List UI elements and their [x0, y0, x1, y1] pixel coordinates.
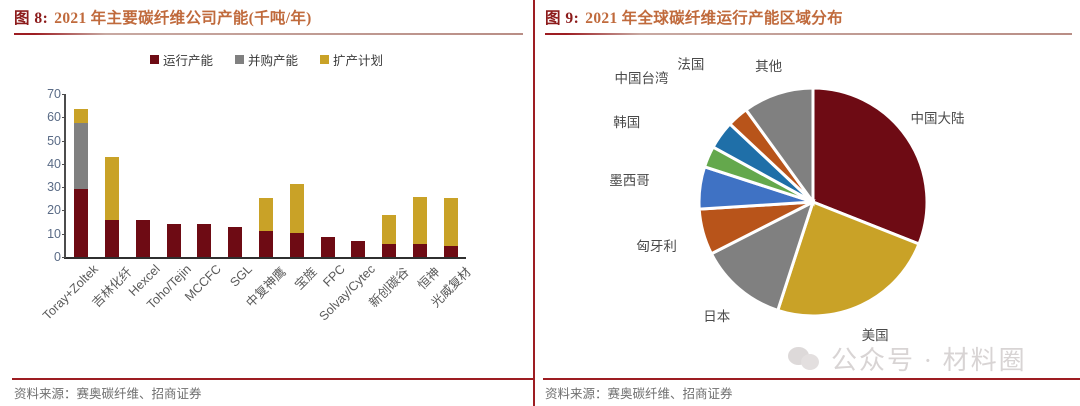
bar-segment	[105, 220, 119, 257]
bar-segment	[105, 157, 119, 220]
left-figure-panel: 图 8: 2021 年主要碳纤维公司产能(千吨/年) 运行产能并购产能扩产计划 …	[0, 0, 533, 406]
y-tick-mark	[62, 257, 66, 258]
bar-column[interactable]	[374, 94, 405, 257]
bar-segment	[413, 244, 427, 257]
bar-column[interactable]	[158, 94, 189, 257]
bar-segment	[382, 244, 396, 257]
bar-segment	[74, 189, 88, 257]
stacked-bar	[351, 241, 365, 257]
y-tick-label: 50	[47, 134, 61, 148]
stacked-bar	[74, 109, 88, 257]
stacked-bar	[197, 224, 211, 257]
stacked-bar	[290, 184, 304, 257]
y-tick-label: 10	[47, 227, 61, 241]
right-figure-title: 2021 年全球碳纤维运行产能区域分布	[585, 6, 843, 28]
y-tick-label: 40	[47, 157, 61, 171]
bar-segment	[413, 197, 427, 244]
pie-chart-svg	[533, 40, 1080, 370]
left-source-note: 资料来源：赛奥碳纤维、招商证券	[14, 383, 202, 402]
stacked-bar	[228, 227, 242, 257]
bar-column[interactable]	[312, 94, 343, 257]
pie-slice-label: 墨西哥	[609, 169, 650, 189]
left-footer-rule	[12, 378, 533, 380]
wechat-icon	[788, 347, 822, 371]
legend-swatch-icon	[150, 55, 159, 64]
right-title-block: 图 9: 2021 年全球碳纤维运行产能区域分布	[545, 6, 1072, 35]
bar-segment	[228, 227, 242, 257]
right-title-rule	[545, 33, 1072, 35]
left-figure-title: 2021 年主要碳纤维公司产能(千吨/年)	[54, 6, 311, 28]
y-tick-label: 60	[47, 110, 61, 124]
bar-segment	[197, 224, 211, 257]
legend-label: 扩产计划	[333, 50, 383, 69]
legend-item-1[interactable]: 并购产能	[235, 50, 298, 69]
bar-segment	[290, 184, 304, 234]
left-title-rule	[14, 33, 523, 35]
bar-column[interactable]	[66, 94, 97, 257]
legend-swatch-icon	[235, 55, 244, 64]
stacked-bar	[413, 197, 427, 257]
legend-label: 运行产能	[163, 50, 213, 69]
left-figure-number: 图 8:	[14, 6, 48, 28]
y-tick-label: 30	[47, 180, 61, 194]
pie-slice-label: 日本	[703, 305, 730, 325]
bar-segment	[74, 109, 88, 123]
bar-chart: 010203040506070	[0, 80, 533, 270]
pie-slice-label: 法国	[677, 53, 704, 73]
right-figure-panel: 图 9: 2021 年全球碳纤维运行产能区域分布 中国大陆美国日本匈牙利墨西哥韩…	[533, 0, 1080, 406]
legend-swatch-icon	[320, 55, 329, 64]
bar-column[interactable]	[281, 94, 312, 257]
x-axis-line	[64, 257, 466, 259]
right-source-note: 资料来源：赛奥碳纤维、招商证券	[545, 383, 733, 402]
bar-segment	[321, 237, 335, 257]
stacked-bar	[105, 157, 119, 257]
bar-column[interactable]	[404, 94, 435, 257]
watermark-text: 公众号 · 材料圈	[831, 340, 1027, 377]
pie-slice-label: 其他	[755, 55, 782, 75]
legend-item-2[interactable]: 扩产计划	[320, 50, 383, 69]
y-tick-label: 20	[47, 203, 61, 217]
bar-column[interactable]	[435, 94, 466, 257]
bar-segment	[351, 241, 365, 257]
left-title-block: 图 8: 2021 年主要碳纤维公司产能(千吨/年)	[14, 6, 523, 35]
bar-segment	[382, 215, 396, 244]
legend-item-0[interactable]: 运行产能	[150, 50, 213, 69]
bar-column[interactable]	[343, 94, 374, 257]
pie-slice-label: 韩国	[613, 111, 640, 131]
pie-chart: 中国大陆美国日本匈牙利墨西哥韩国中国台湾法国其他	[533, 40, 1080, 370]
pie-slice-label: 匈牙利	[636, 235, 677, 255]
bar-column[interactable]	[97, 94, 128, 257]
bar-segment	[444, 246, 458, 257]
bar-column[interactable]	[189, 94, 220, 257]
figure-page: 图 8: 2021 年主要碳纤维公司产能(千吨/年) 运行产能并购产能扩产计划 …	[0, 0, 1080, 406]
watermark: 公众号 · 材料圈	[788, 340, 1027, 377]
bar-segment	[290, 233, 304, 257]
bar-segment	[259, 198, 273, 231]
pie-slice-label: 中国台湾	[614, 67, 668, 87]
y-tick-label: 0	[54, 250, 61, 264]
legend-label: 并购产能	[248, 50, 298, 69]
stacked-bar	[167, 224, 181, 257]
bar-segment	[444, 198, 458, 246]
bar-segment	[74, 123, 88, 189]
bar-group	[66, 94, 466, 257]
bar-chart-legend: 运行产能并购产能扩产计划	[0, 50, 533, 69]
stacked-bar	[382, 215, 396, 257]
right-footer-rule	[543, 378, 1080, 380]
pie-slice-label: 中国大陆	[910, 107, 964, 127]
right-figure-number: 图 9:	[545, 6, 579, 28]
bar-segment	[259, 231, 273, 257]
bar-column[interactable]	[128, 94, 159, 257]
stacked-bar	[321, 237, 335, 257]
bar-segment	[167, 224, 181, 257]
bar-column[interactable]	[251, 94, 282, 257]
stacked-bar	[259, 198, 273, 257]
bar-column[interactable]	[220, 94, 251, 257]
stacked-bar	[136, 220, 150, 257]
stacked-bar	[444, 198, 458, 257]
bar-plot-area: 010203040506070	[66, 94, 466, 257]
y-tick-label: 70	[47, 87, 61, 101]
bar-segment	[136, 220, 150, 257]
